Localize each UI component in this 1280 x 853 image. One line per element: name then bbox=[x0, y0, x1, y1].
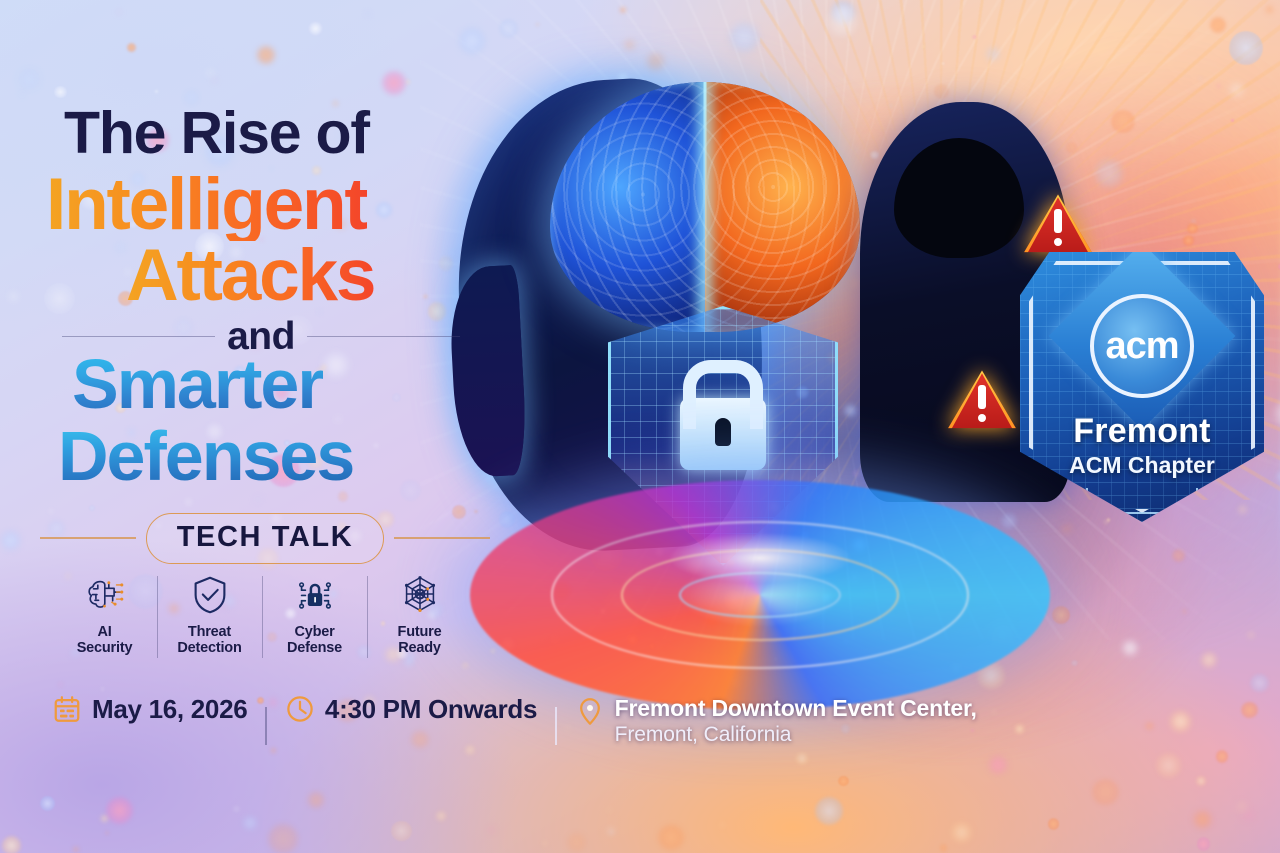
tech-platform-disc bbox=[470, 480, 1050, 710]
brain-divider bbox=[704, 82, 707, 332]
event-details-bar: May 16, 2026 4:30 PM Onwards Fremont Dow… bbox=[52, 694, 977, 758]
event-time: 4:30 PM Onwards bbox=[285, 694, 537, 724]
feature-label: FutureReady bbox=[398, 624, 442, 656]
padlock-icon bbox=[680, 398, 766, 470]
network-web-icon bbox=[397, 572, 443, 618]
details-divider bbox=[555, 707, 557, 745]
feature-item-cyber-defense: CyberDefense bbox=[262, 572, 367, 656]
headline-line-2: Intelligent bbox=[46, 168, 367, 241]
connector-rule-right bbox=[307, 336, 460, 337]
tech-talk-rule-left bbox=[40, 537, 136, 539]
acm-logo-text: acm bbox=[1105, 327, 1178, 365]
ai-brain-circuit-icon bbox=[82, 572, 128, 618]
feature-item-future-ready: FutureReady bbox=[367, 572, 472, 656]
event-time-text: 4:30 PM Onwards bbox=[325, 696, 537, 722]
tech-talk-badge: TECH TALK bbox=[146, 513, 385, 564]
chapter-name: Fremont bbox=[1020, 412, 1264, 451]
acm-logo-circle: acm bbox=[1090, 294, 1194, 398]
hero-artwork bbox=[430, 40, 1070, 720]
headline-line-4: Smarter bbox=[72, 349, 323, 419]
tech-talk-row: TECH TALK bbox=[40, 512, 490, 564]
feature-list: AISecurity ThreatDetection bbox=[52, 572, 472, 668]
shield-check-icon bbox=[187, 572, 233, 618]
connector-rule-left bbox=[62, 336, 215, 337]
venue-name: Fremont Downtown Event Center, bbox=[615, 696, 977, 722]
headline-line-3: Attacks bbox=[126, 239, 374, 312]
event-date: May 16, 2026 bbox=[52, 694, 247, 724]
feature-label: AISecurity bbox=[77, 624, 133, 656]
headline-line-5: Defenses bbox=[58, 421, 353, 491]
feature-label: CyberDefense bbox=[287, 624, 342, 656]
clock-icon bbox=[285, 694, 315, 724]
platform-core-glow bbox=[670, 533, 850, 583]
event-poster: acm Fremont ACM Chapter The Rise of Inte… bbox=[0, 0, 1280, 853]
map-pin-icon bbox=[575, 696, 605, 726]
split-brain-icon bbox=[550, 82, 860, 332]
calendar-icon bbox=[52, 694, 82, 724]
feature-item-threat-detection: ThreatDetection bbox=[157, 572, 262, 656]
tech-talk-rule-right bbox=[394, 537, 490, 539]
feature-label: ThreatDetection bbox=[177, 624, 241, 656]
padlock-circuit-icon bbox=[292, 572, 338, 618]
headline-line-1: The Rise of bbox=[64, 104, 369, 163]
feature-item-ai-security: AISecurity bbox=[52, 572, 157, 656]
event-date-text: May 16, 2026 bbox=[92, 696, 247, 722]
event-venue: Fremont Downtown Event Center, Fremont, … bbox=[575, 694, 977, 747]
venue-city: Fremont, California bbox=[615, 722, 977, 747]
details-divider bbox=[265, 707, 267, 745]
